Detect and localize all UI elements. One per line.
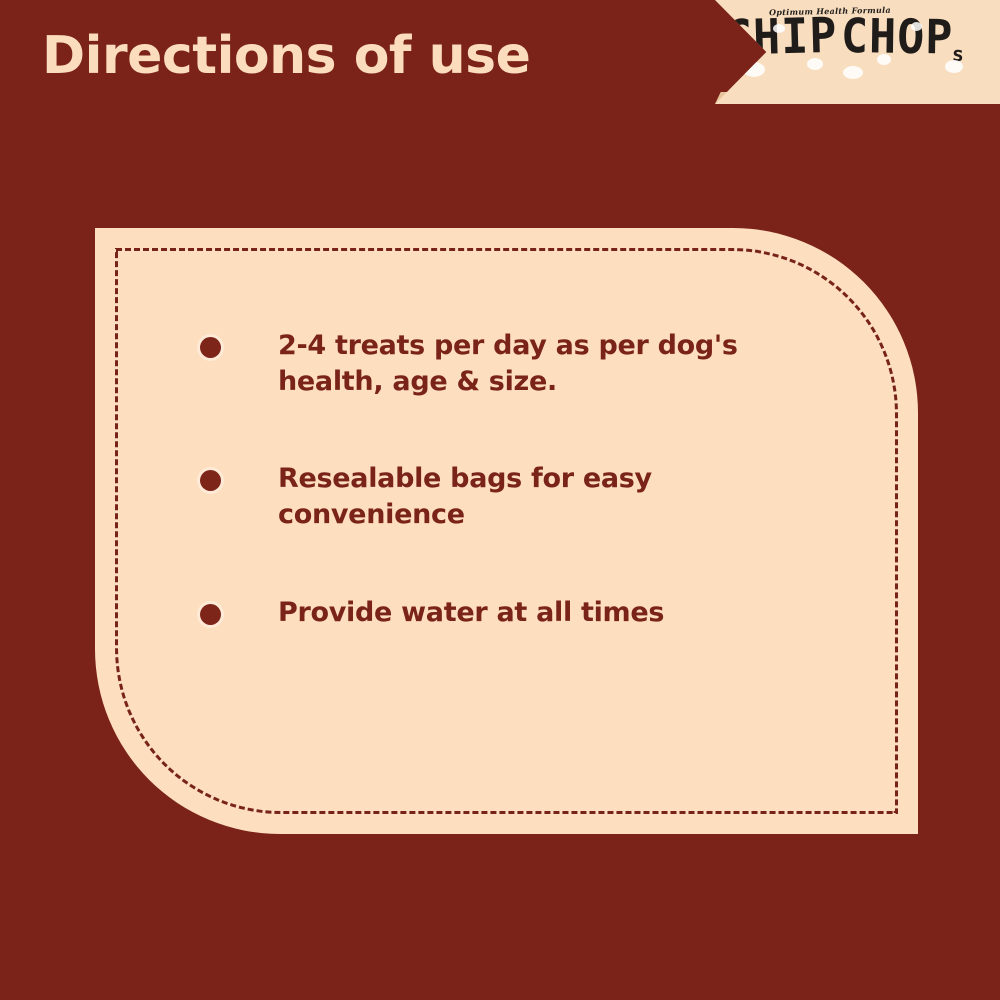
brand-word-chop: CHOP <box>841 12 954 61</box>
list-item: 2-4 treats per day as per dog's health, … <box>200 328 848 399</box>
brand-logo-wordmark: CHIPCHOPs <box>725 14 995 59</box>
logo-speckle-icon <box>945 60 963 73</box>
logo-speckle-icon <box>743 62 765 77</box>
page-title: Directions of use <box>42 26 530 86</box>
logo-speckle-icon <box>843 66 863 79</box>
logo-speckle-icon <box>877 54 891 65</box>
bullet-dot-icon <box>200 604 221 625</box>
list-item-label: Resealable bags for easy convenience <box>278 461 758 532</box>
list-item-label: Provide water at all times <box>278 595 664 631</box>
bullet-dot-icon <box>200 470 221 491</box>
logo-speckle-icon <box>807 58 823 70</box>
brand-ribbon: Optimum Health Formula CHIPCHOPs <box>715 0 1000 104</box>
directions-card: 2-4 treats per day as per dog's health, … <box>95 228 918 834</box>
list-item-label: 2-4 treats per day as per dog's health, … <box>278 328 758 399</box>
bullet-dot-icon <box>200 337 221 358</box>
logo-speckle-icon <box>773 24 785 33</box>
header: Directions of use Optimum Health Formula… <box>0 0 1000 110</box>
list-item: Provide water at all times <box>200 595 848 631</box>
directions-bullet-list: 2-4 treats per day as per dog's health, … <box>200 328 848 630</box>
brand-word-chip: CHIP <box>724 11 838 63</box>
list-item: Resealable bags for easy convenience <box>200 461 848 532</box>
logo-speckle-icon <box>911 22 922 31</box>
directions-of-use-infographic: { "header": { "title": "Directions of us… <box>0 0 1000 1000</box>
